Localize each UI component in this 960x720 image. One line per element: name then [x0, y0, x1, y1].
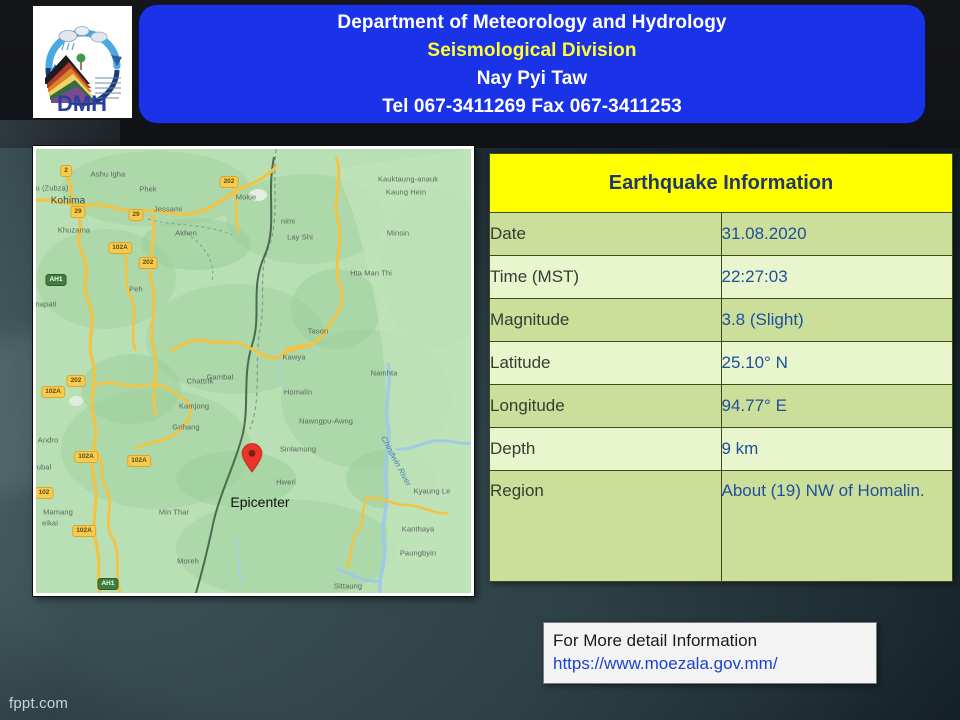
info-row-value: 3.8 (Slight)	[721, 299, 953, 342]
earthquake-info-table: Earthquake Information Date31.08.2020Tim…	[489, 153, 953, 582]
map-route-shield: 202	[220, 176, 239, 188]
map-route-shield: 102A	[41, 386, 65, 398]
info-row-value: 94.77° E	[721, 385, 953, 428]
map-canvas[interactable]: Ashu Ighau (Zubza)KohimaPhekJessamiMokie…	[36, 149, 471, 593]
map-route-shield: 102A	[74, 451, 98, 463]
header-banner: Department of Meteorology and Hydrology …	[139, 5, 925, 123]
info-table-row: RegionAbout (19) NW of Homalin.	[490, 471, 953, 582]
header-line-city: Nay Pyi Taw	[477, 65, 588, 92]
map-route-shield: 202	[139, 257, 158, 269]
more-info-text: For More detail Information	[553, 629, 867, 652]
info-row-value: 22:27:03	[721, 256, 953, 299]
info-row-label: Longitude	[490, 385, 722, 428]
fppt-watermark: fppt.com	[9, 695, 68, 712]
slide-root: fppt.com	[0, 0, 960, 720]
map-route-shield: 102A	[108, 242, 132, 254]
info-row-label: Latitude	[490, 342, 722, 385]
info-row-label: Region	[490, 471, 722, 582]
info-table-row: Time (MST)22:27:03	[490, 256, 953, 299]
info-table-row: Depth9 km	[490, 428, 953, 471]
dmh-logo: DMH	[33, 6, 132, 118]
info-row-value: 9 km	[721, 428, 953, 471]
map-route-shield: AH1	[97, 578, 118, 590]
info-row-value: About (19) NW of Homalin.	[721, 471, 953, 582]
map-route-shield: 202	[67, 375, 86, 387]
info-table-row: Date31.08.2020	[490, 213, 953, 256]
map-route-shield: 2	[60, 165, 72, 177]
map-route-shield: AH1	[45, 274, 66, 286]
map-panel[interactable]: Ashu Ighau (Zubza)KohimaPhekJessamiMokie…	[33, 146, 474, 596]
header-line-division: Seismological Division	[427, 37, 636, 64]
dmh-logo-text: DMH	[57, 91, 107, 116]
info-table-row: Latitude25.10° N	[490, 342, 953, 385]
header-line-contact: Tel 067-3411269 Fax 067-3411253	[382, 93, 682, 120]
info-row-value: 25.10° N	[721, 342, 953, 385]
info-row-label: Time (MST)	[490, 256, 722, 299]
info-table-title: Earthquake Information	[490, 154, 953, 213]
map-route-shield: 102A	[72, 525, 96, 537]
info-row-label: Date	[490, 213, 722, 256]
epicenter-label: Epicenter	[230, 494, 289, 510]
map-route-shield: 102	[36, 487, 53, 499]
info-table-row: Magnitude3.8 (Slight)	[490, 299, 953, 342]
map-route-shield: 29	[128, 209, 143, 221]
map-route-shield: 102A	[127, 455, 151, 467]
dmh-logo-icon: DMH	[33, 6, 132, 118]
header-line-department: Department of Meteorology and Hydrology	[337, 9, 726, 36]
info-row-label: Depth	[490, 428, 722, 471]
map-terrain-graphic	[36, 149, 471, 593]
moezala-website-link[interactable]: https://www.moezala.gov.mm/	[553, 652, 867, 675]
map-route-shield: 29	[70, 206, 85, 218]
info-table-row: Longitude94.77° E	[490, 385, 953, 428]
info-row-label: Magnitude	[490, 299, 722, 342]
info-row-value: 31.08.2020	[721, 213, 953, 256]
more-info-box[interactable]: For More detail Information https://www.…	[543, 622, 877, 684]
